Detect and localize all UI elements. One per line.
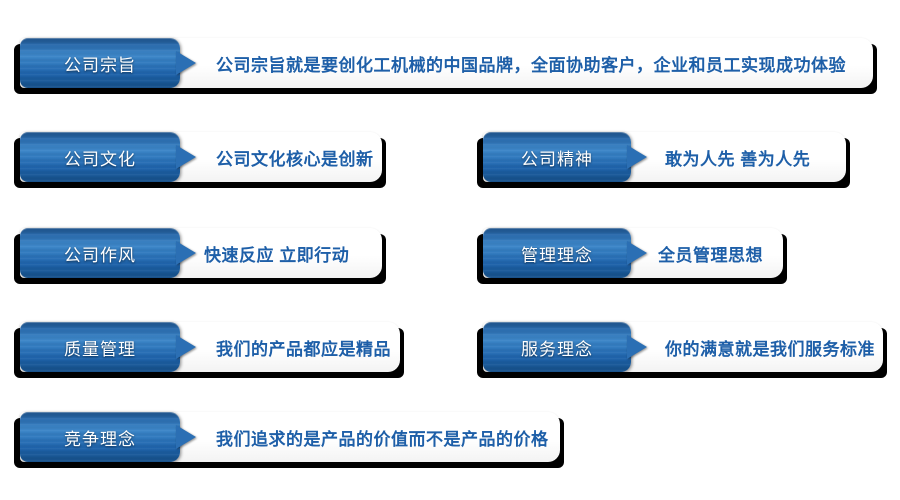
banner-card-service-philosophy[interactable]: 服务理念你的满意就是我们服务标准	[483, 322, 883, 372]
banner-card-company-purpose[interactable]: 公司宗旨公司宗旨就是要创化工机械的中国品牌，全面协助客户，企业和员工实现成功体验	[20, 38, 873, 88]
banner-card-quality-management[interactable]: 质量管理我们的产品都应是精品	[20, 322, 400, 372]
card-description: 全员管理思想	[658, 228, 763, 278]
card-description: 我们追求的是产品的价值而不是产品的价格	[216, 412, 549, 462]
arrow-right-icon	[176, 145, 196, 169]
card-description: 敢为人先 善为人先	[665, 132, 810, 182]
card-blue-tab	[20, 38, 180, 88]
card-description: 公司宗旨就是要创化工机械的中国品牌，全面协助客户，企业和员工实现成功体验	[216, 38, 846, 88]
banner-card-company-style[interactable]: 公司作风快速反应 立即行动	[20, 228, 382, 278]
arrow-right-icon	[176, 335, 196, 359]
card-description: 快速反应 立即行动	[204, 228, 349, 278]
card-blue-tab	[20, 322, 180, 372]
banner-card-company-culture[interactable]: 公司文化公司文化核心是创新	[20, 132, 382, 182]
arrow-right-icon	[176, 51, 196, 75]
card-description: 我们的产品都应是精品	[216, 322, 391, 372]
card-blue-tab	[483, 322, 631, 372]
banner-card-management-philosophy[interactable]: 管理理念全员管理思想	[483, 228, 783, 278]
banner-card-competition-philosophy[interactable]: 竞争理念我们追求的是产品的价值而不是产品的价格	[20, 412, 560, 462]
arrow-right-icon	[627, 335, 647, 359]
arrow-right-icon	[176, 425, 196, 449]
banner-board: 公司宗旨公司宗旨就是要创化工机械的中国品牌，全面协助客户，企业和员工实现成功体验…	[0, 0, 900, 500]
card-blue-tab	[20, 412, 180, 462]
card-description: 你的满意就是我们服务标准	[665, 322, 875, 372]
card-description: 公司文化核心是创新	[216, 132, 374, 182]
card-blue-tab	[20, 228, 180, 278]
arrow-right-icon	[176, 241, 196, 265]
arrow-right-icon	[627, 145, 647, 169]
card-blue-tab	[483, 228, 631, 278]
banner-card-company-spirit[interactable]: 公司精神敢为人先 善为人先	[483, 132, 846, 182]
card-blue-tab	[20, 132, 180, 182]
arrow-right-icon	[627, 241, 647, 265]
card-blue-tab	[483, 132, 631, 182]
